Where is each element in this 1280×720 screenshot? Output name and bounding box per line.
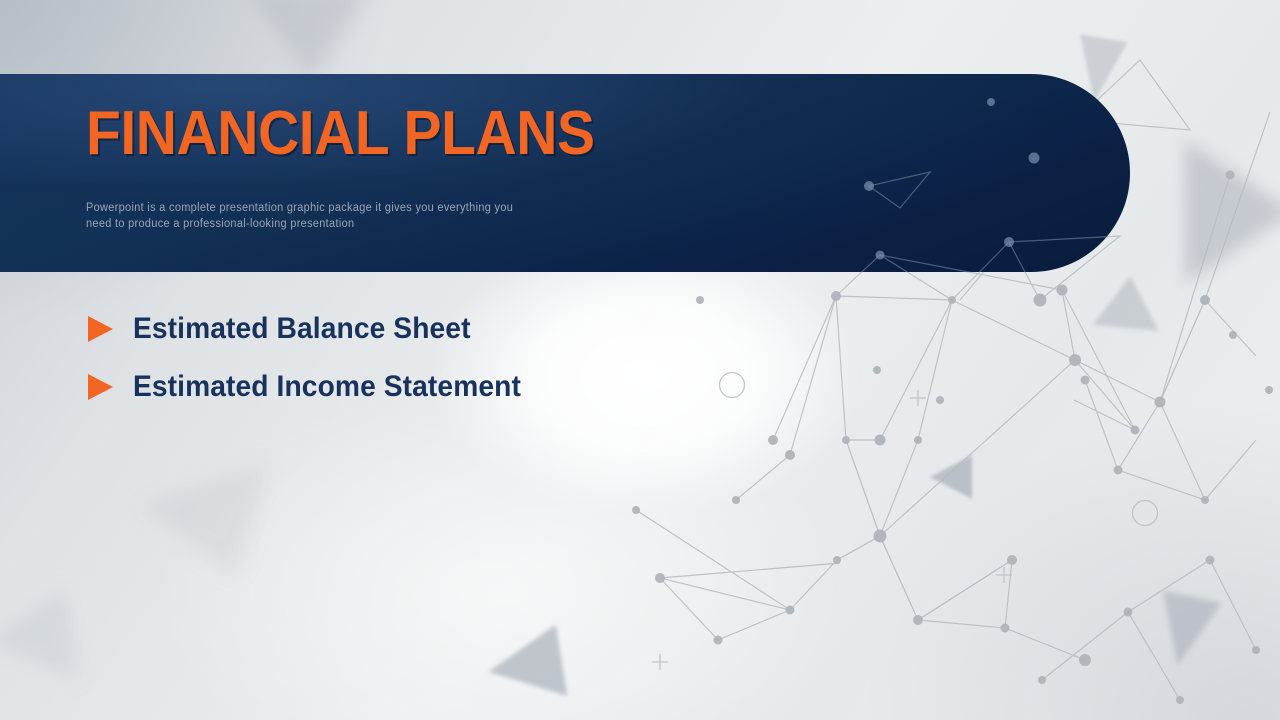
list-item-label: Estimated Income Statement [133,370,521,404]
background-corner-shade-bottom-right [860,400,1280,720]
triangle-right-icon [88,374,113,400]
list-item-label: Estimated Balance Sheet [133,312,471,346]
bullet-list: Estimated Balance Sheet Estimated Income… [88,312,546,404]
slide-subtitle: Powerpoint is a complete presentation gr… [86,200,533,232]
decor-triangle-icon-right-large [1185,140,1280,284]
decor-triangle-icon-right-mid [930,455,972,499]
list-item[interactable]: Estimated Income Statement [88,370,546,404]
decor-triangle-icon-top-left [250,0,370,80]
triangle-right-icon [88,316,113,342]
page-title: FINANCIAL PLANS [86,103,595,165]
list-item[interactable]: Estimated Balance Sheet [88,312,546,346]
decor-triangle-icon-bottom-center [483,625,567,708]
decor-triangle-icon-right-upper [1093,273,1163,331]
presentation-slide: FINANCIAL PLANS Powerpoint is a complete… [0,0,1280,720]
